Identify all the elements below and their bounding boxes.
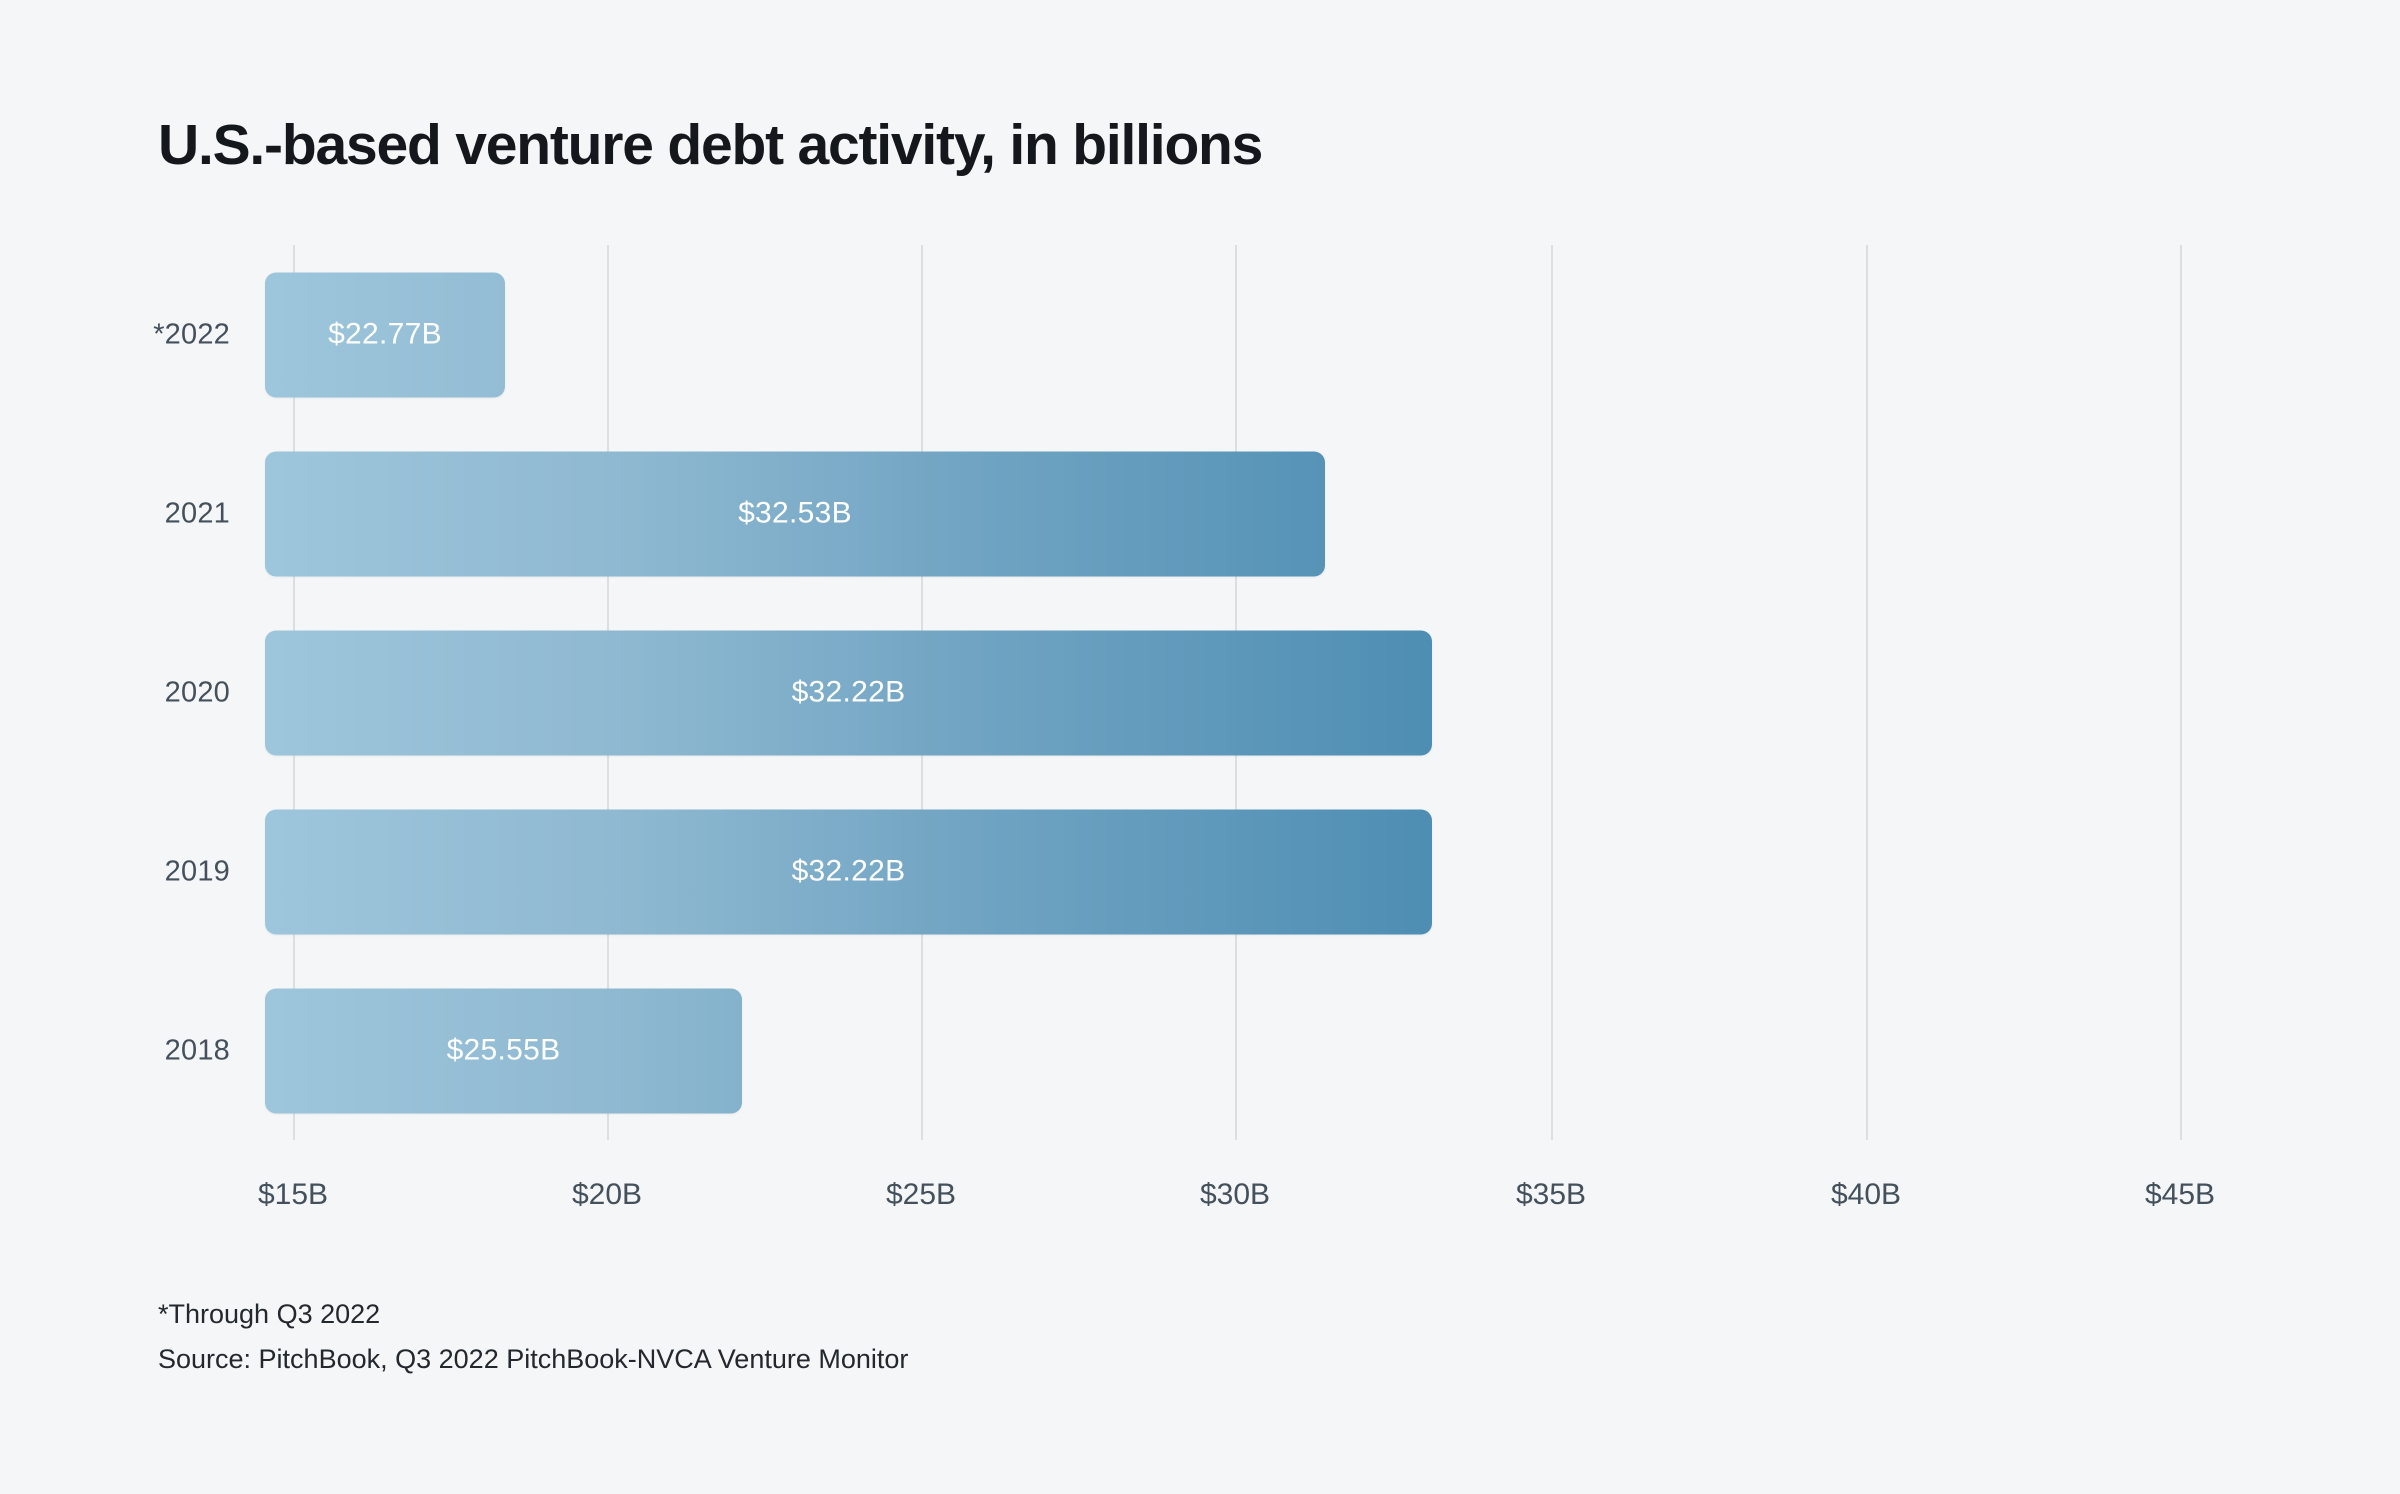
bar-row: 2020$32.22B	[0, 603, 2400, 782]
bars-layer: *2022$22.77B2021$32.53B2020$32.22B2019$3…	[0, 245, 2400, 1140]
bar[interactable]	[265, 272, 505, 397]
chart-footnotes: *Through Q3 2022 Source: PitchBook, Q3 2…	[158, 1292, 1558, 1382]
x-tick-label: $15B	[258, 1178, 328, 1212]
bar-row: 2018$25.55B	[0, 961, 2400, 1140]
x-tick-label: $30B	[1200, 1178, 1270, 1212]
category-label: 2019	[0, 855, 230, 888]
bar[interactable]	[265, 988, 742, 1113]
chart-card: U.S.-based venture debt activity, in bil…	[0, 0, 2400, 1494]
footnote-source: Source: PitchBook, Q3 2022 PitchBook-NVC…	[158, 1337, 1558, 1382]
x-axis: $15B$20B$25B$30B$35B$40B$45B	[0, 1140, 2400, 1230]
category-label: 2018	[0, 1034, 230, 1067]
plot-area: *2022$22.77B2021$32.53B2020$32.22B2019$3…	[0, 245, 2400, 1140]
x-tick-label: $45B	[2145, 1178, 2215, 1212]
x-tick-label: $40B	[1831, 1178, 1901, 1212]
category-label: 2020	[0, 676, 230, 709]
x-tick-label: $35B	[1516, 1178, 1586, 1212]
bar[interactable]	[265, 809, 1432, 934]
chart-title: U.S.-based venture debt activity, in bil…	[158, 112, 1262, 178]
bar-row: 2021$32.53B	[0, 424, 2400, 603]
bar[interactable]	[265, 451, 1325, 576]
x-tick-label: $25B	[886, 1178, 956, 1212]
category-label: 2021	[0, 497, 230, 530]
bar-row: *2022$22.77B	[0, 245, 2400, 424]
bar-row: 2019$32.22B	[0, 782, 2400, 961]
x-tick-label: $20B	[572, 1178, 642, 1212]
footnote-through-date: *Through Q3 2022	[158, 1292, 1558, 1337]
bar[interactable]	[265, 630, 1432, 755]
category-label: *2022	[0, 318, 230, 351]
